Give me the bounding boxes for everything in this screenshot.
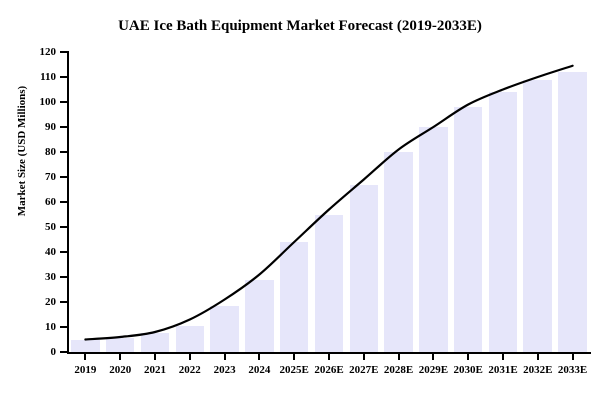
y-axis-tick bbox=[60, 201, 68, 203]
y-axis-tick bbox=[60, 101, 68, 103]
x-axis-tick bbox=[572, 353, 574, 360]
bar-slot bbox=[486, 52, 521, 352]
y-axis-tick bbox=[60, 126, 68, 128]
y-axis-tick bbox=[60, 176, 68, 178]
bar-slot bbox=[346, 52, 381, 352]
x-axis-tick bbox=[258, 353, 260, 360]
x-axis-tick bbox=[154, 353, 156, 360]
x-axis-tick bbox=[84, 353, 86, 360]
bar bbox=[106, 338, 135, 352]
chart-figure: UAE Ice Bath Equipment Market Forecast (… bbox=[0, 0, 600, 401]
bar bbox=[558, 72, 587, 352]
y-axis-tick bbox=[60, 151, 68, 153]
bar bbox=[280, 242, 309, 352]
y-axis-tick-label: 80 bbox=[4, 147, 56, 157]
bar-slot bbox=[555, 52, 590, 352]
bar bbox=[176, 326, 205, 352]
plot-inner bbox=[68, 52, 590, 352]
x-axis-tick bbox=[537, 353, 539, 360]
bar-slot bbox=[520, 52, 555, 352]
y-axis-tick bbox=[60, 51, 68, 53]
y-axis-tick bbox=[60, 351, 68, 353]
bar bbox=[489, 92, 518, 352]
x-axis-tick bbox=[502, 353, 504, 360]
x-axis-tick bbox=[432, 353, 434, 360]
plot-area bbox=[68, 52, 590, 353]
y-axis-tick bbox=[60, 301, 68, 303]
bar-slot bbox=[451, 52, 486, 352]
x-axis-tick bbox=[363, 353, 365, 360]
y-axis-tick-label: 50 bbox=[4, 222, 56, 232]
y-axis-tick-label: 100 bbox=[4, 97, 56, 107]
bar-slot bbox=[416, 52, 451, 352]
y-axis-tick-label: 60 bbox=[4, 197, 56, 207]
bar-slot bbox=[381, 52, 416, 352]
bar-slot bbox=[277, 52, 312, 352]
bar bbox=[245, 280, 274, 353]
x-axis-tick bbox=[467, 353, 469, 360]
y-axis-tick-label: 10 bbox=[4, 322, 56, 332]
x-axis-tick-label: 2033E bbox=[545, 364, 600, 376]
bar-slot bbox=[68, 52, 103, 352]
bar-slot bbox=[242, 52, 277, 352]
y-axis-tick bbox=[60, 251, 68, 253]
bar-series bbox=[68, 52, 590, 352]
y-axis-tick bbox=[60, 276, 68, 278]
x-axis-tick bbox=[119, 353, 121, 360]
y-axis-tick-label: 120 bbox=[4, 47, 56, 57]
y-axis-tick bbox=[60, 326, 68, 328]
bar bbox=[523, 80, 552, 353]
y-axis-tick bbox=[60, 226, 68, 228]
x-axis-tick bbox=[398, 353, 400, 360]
y-axis-tick-label: 30 bbox=[4, 272, 56, 282]
y-axis-tick-label: 20 bbox=[4, 297, 56, 307]
y-axis-tick-label: 40 bbox=[4, 247, 56, 257]
bar bbox=[384, 152, 413, 352]
bar-slot bbox=[172, 52, 207, 352]
bar-slot bbox=[103, 52, 138, 352]
y-axis-tick-label: 70 bbox=[4, 172, 56, 182]
bar bbox=[71, 340, 100, 352]
bar-slot bbox=[138, 52, 173, 352]
x-axis-tick bbox=[293, 353, 295, 360]
x-axis-tick bbox=[328, 353, 330, 360]
chart-title: UAE Ice Bath Equipment Market Forecast (… bbox=[0, 18, 600, 35]
bar bbox=[315, 215, 344, 353]
bar bbox=[419, 127, 448, 352]
x-axis-tick bbox=[224, 353, 226, 360]
bar-slot bbox=[207, 52, 242, 352]
bar bbox=[454, 107, 483, 352]
bar bbox=[350, 185, 379, 353]
y-axis-tick-label: 0 bbox=[4, 347, 56, 357]
bar bbox=[210, 306, 239, 352]
x-axis-tick bbox=[189, 353, 191, 360]
bar bbox=[141, 333, 170, 352]
y-axis-tick-label: 90 bbox=[4, 122, 56, 132]
bar-slot bbox=[312, 52, 347, 352]
y-axis-tick bbox=[60, 76, 68, 78]
y-axis-tick-label: 110 bbox=[4, 72, 56, 82]
